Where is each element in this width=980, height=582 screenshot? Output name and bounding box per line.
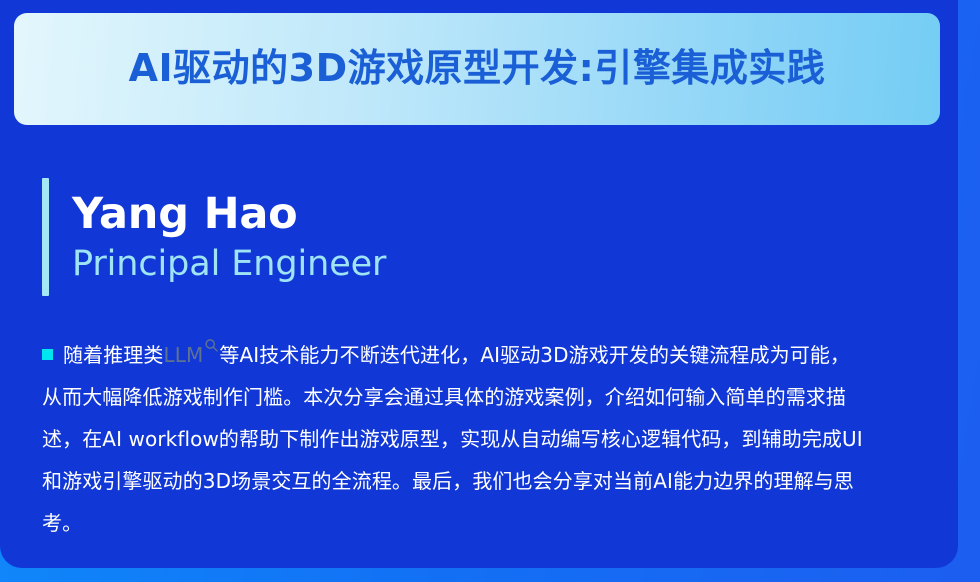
lookup-term-llm[interactable]: LLM: [164, 343, 204, 367]
speaker-names: Yang Hao Principal Engineer: [72, 178, 386, 296]
abstract-line-3: 述，在AI workflow的帮助下制作出游戏原型，实现从自动编写核心逻辑代码，…: [42, 418, 944, 460]
abstract-line-2: 从而大幅降低游戏制作门槛。本次分享会通过具体的游戏案例，介绍如何输入简单的需求描: [42, 376, 944, 418]
session-title: AI驱动的3D游戏原型开发:引擎集成实践: [129, 47, 826, 91]
abstract-text: 随着推理类LLM等AI技术能力不断迭代进化，AI驱动3D游戏开发的关键流程成为可…: [42, 334, 944, 544]
search-icon[interactable]: [204, 338, 219, 353]
page-canvas: AI驱动的3D游戏原型开发:引擎集成实践 Yang Hao Principal …: [0, 0, 980, 582]
abstract-line-1-post: 等AI技术能力不断迭代进化，AI驱动3D游戏开发的关键流程成为可能，: [219, 343, 850, 367]
speaker-name: Yang Hao: [72, 190, 386, 238]
session-card: AI驱动的3D游戏原型开发:引擎集成实践 Yang Hao Principal …: [0, 0, 958, 568]
square-bullet-icon: [42, 349, 53, 360]
accent-bar: [42, 178, 49, 296]
abstract-line-4: 和游戏引擎驱动的3D场景交互的全流程。最后，我们也会分享对当前AI能力边界的理解…: [42, 460, 944, 502]
abstract-line-1: 随着推理类LLM等AI技术能力不断迭代进化，AI驱动3D游戏开发的关键流程成为可…: [42, 334, 944, 376]
speaker-role: Principal Engineer: [72, 244, 386, 284]
speaker-block: Yang Hao Principal Engineer: [42, 178, 386, 296]
abstract-line-5: 考。: [42, 502, 944, 544]
abstract-line-1-pre: 随着推理类: [63, 343, 164, 367]
session-abstract: 随着推理类LLM等AI技术能力不断迭代进化，AI驱动3D游戏开发的关键流程成为可…: [42, 334, 944, 544]
session-title-banner: AI驱动的3D游戏原型开发:引擎集成实践: [14, 13, 940, 125]
